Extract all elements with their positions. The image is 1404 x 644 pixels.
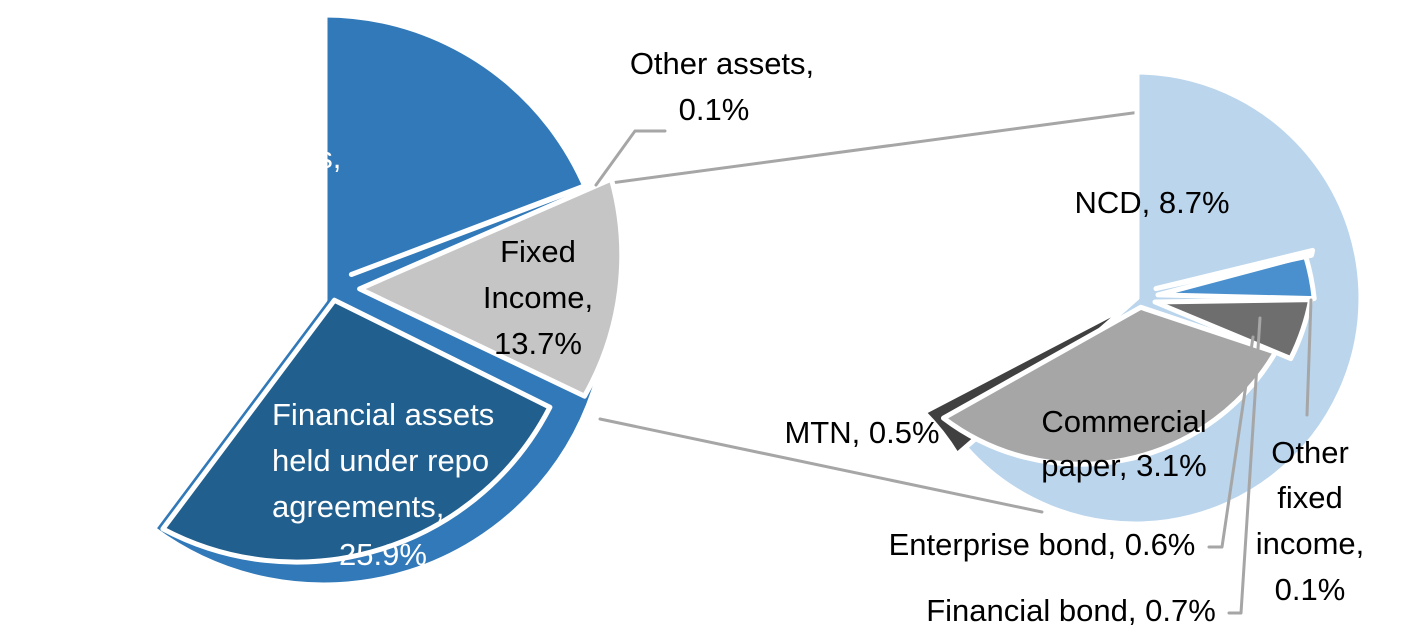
label-other-fixed-income-line2: fixed xyxy=(1277,480,1342,515)
label-fixed-income-line3: 13.7% xyxy=(494,326,582,361)
label-commercial-paper-line2: paper, 3.1% xyxy=(1041,448,1206,483)
label-bank-deposits-line2: 60.3% xyxy=(138,187,226,222)
label-ncd: NCD, 8.7% xyxy=(1074,185,1229,220)
pie-of-pie-chart: Bank deposits, 60.3% Financial assets he… xyxy=(0,0,1404,644)
label-repo-line4: 25.9% xyxy=(339,537,427,572)
label-fixed-income-line1: Fixed xyxy=(500,234,576,269)
label-other-fixed-income-line4: 0.1% xyxy=(1275,572,1346,607)
label-repo-line1: Financial assets xyxy=(272,397,494,432)
label-mtn: MTN, 0.5% xyxy=(784,415,939,450)
label-fixed-income-line2: Income, xyxy=(483,280,593,315)
chart-canvas: Bank deposits, 60.3% Financial assets he… xyxy=(0,0,1404,644)
label-other-fixed-income-line3: income, xyxy=(1256,526,1365,561)
label-enterprise-bond: Enterprise bond, 0.6% xyxy=(889,527,1196,562)
label-commercial-paper-line1: Commercial xyxy=(1041,404,1206,439)
label-repo-line3: agreements, xyxy=(272,489,444,524)
label-other-fixed-income-line1: Other xyxy=(1271,435,1349,470)
label-other-assets-line1: Other assets, xyxy=(630,46,814,81)
label-bank-deposits-line1: Bank deposits, xyxy=(138,140,341,175)
label-repo-line2: held under repo xyxy=(272,443,489,478)
label-other-assets-line2: 0.1% xyxy=(679,92,750,127)
label-financial-bond: Financial bond, 0.7% xyxy=(926,593,1216,628)
